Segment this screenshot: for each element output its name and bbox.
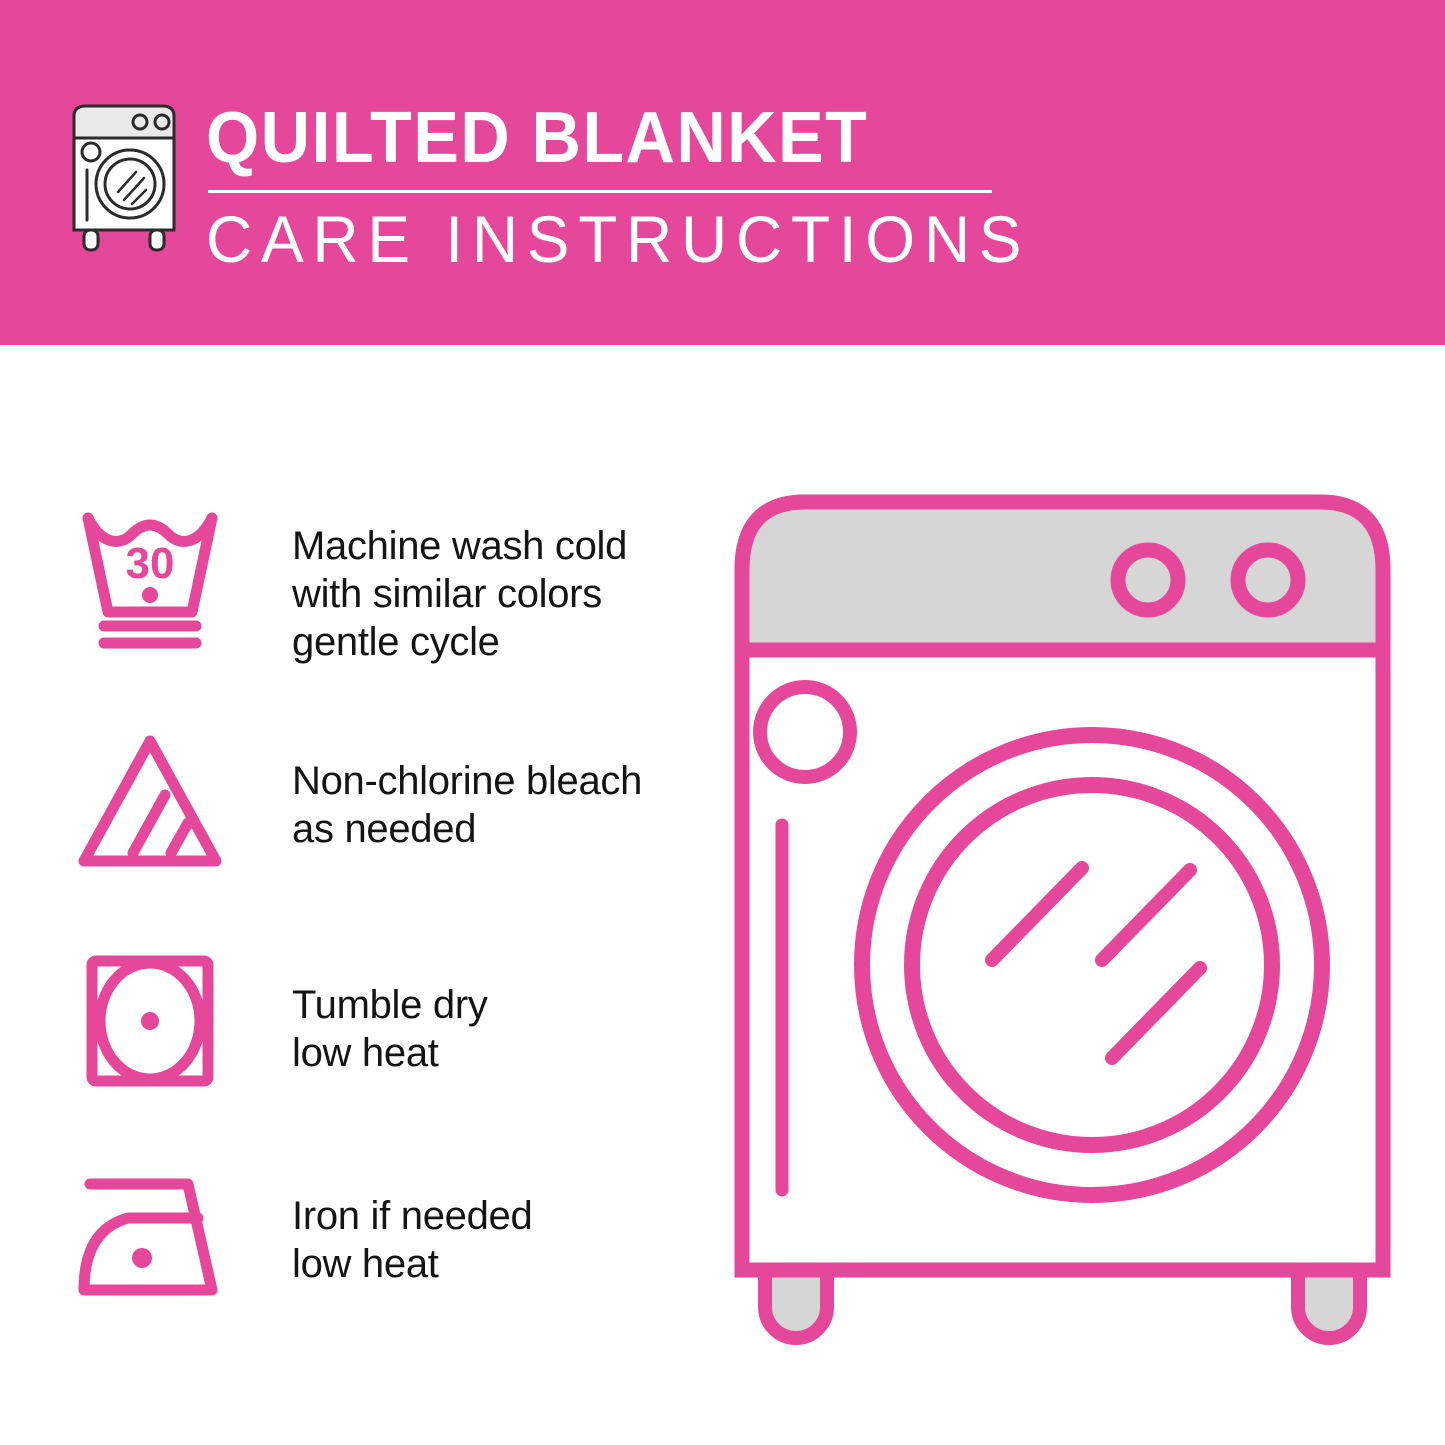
care-row-tumble-dry: Tumble dry low heat [70,945,488,1095]
header-titles: QUILTED BLANKET CARE INSTRUCTIONS [206,96,1056,275]
care-text-iron: Iron if needed low heat [292,1160,532,1288]
wash-temperature-label: 30 [126,539,175,588]
page-subtitle: CARE INSTRUCTIONS [206,203,1030,275]
iron-icon [70,1160,230,1310]
washer-knob-1[interactable] [1118,550,1178,610]
care-row-wash: 30 Machine wash cold with similar colors… [70,500,627,666]
header-content: QUILTED BLANKET CARE INSTRUCTIONS [62,96,1056,275]
care-row-bleach: Non-chlorine bleach as needed [70,725,642,875]
page-title: QUILTED BLANKET [206,100,1013,176]
care-row-iron: Iron if needed low heat [70,1160,532,1310]
tumble-dry-icon [70,945,230,1095]
care-text-wash: Machine wash cold with similar colors ge… [292,500,627,666]
title-divider [208,190,992,193]
care-text-tumble-dry: Tumble dry low heat [292,945,488,1077]
header-banner: QUILTED BLANKET CARE INSTRUCTIONS [0,0,1445,345]
front-load-washing-machine-illustration [720,470,1420,1370]
washer-knob-2[interactable] [1238,550,1298,610]
wash-tub-30-icon: 30 [70,500,230,650]
care-instructions-infographic: QUILTED BLANKET CARE INSTRUCTIONS 30 Mac… [0,0,1445,1445]
washing-machine-icon [62,96,188,256]
bleach-triangle-icon [70,725,230,875]
care-text-bleach: Non-chlorine bleach as needed [292,725,642,853]
